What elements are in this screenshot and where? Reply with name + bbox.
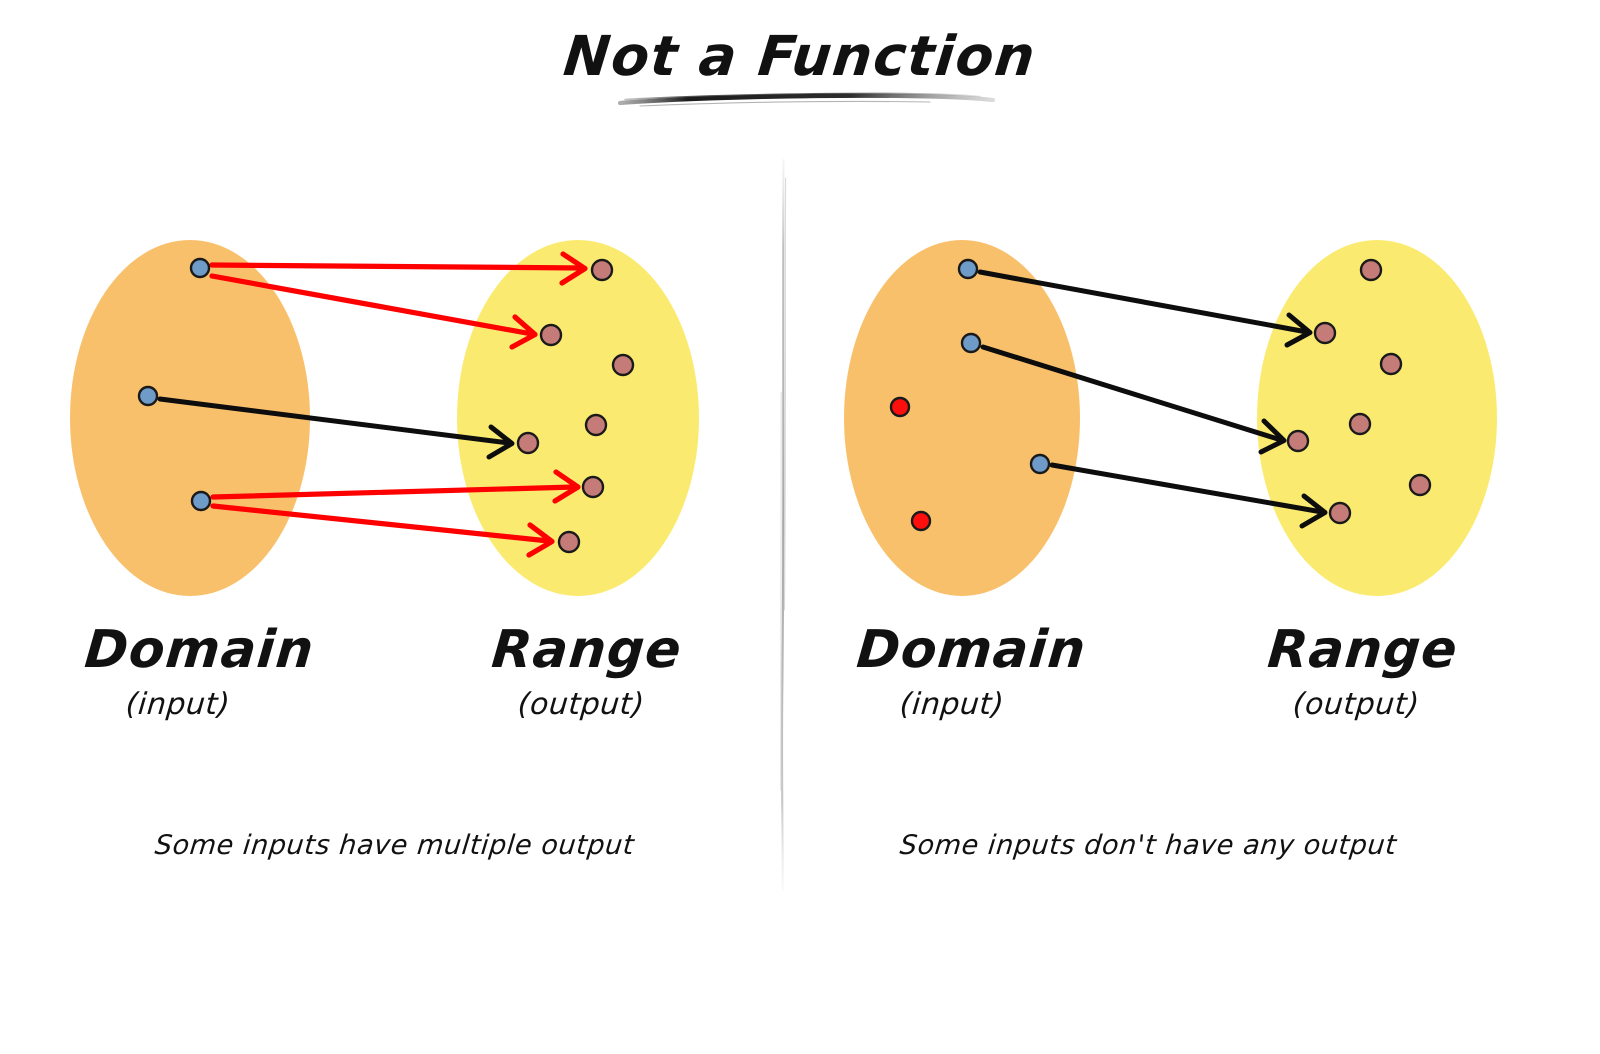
title-underline	[620, 93, 993, 106]
panel-divider	[781, 160, 786, 890]
right-range-sublabel: (output)	[1291, 687, 1420, 722]
right-domain-dot-4	[1031, 455, 1049, 473]
right-domain-dot-5-unmapped	[912, 512, 930, 530]
right-range-dot-1	[1361, 260, 1381, 280]
right-domain-sublabel: (input)	[898, 687, 1005, 722]
right-range-label: Range	[1265, 620, 1460, 680]
right-range-ellipse	[1257, 240, 1497, 596]
left-range-dot-3	[613, 355, 633, 375]
right-range-dot-4	[1350, 414, 1370, 434]
left-domain-ellipse	[70, 240, 310, 596]
right-panel-caption: Some inputs don't have any output	[898, 830, 1398, 861]
left-range-dot-1	[592, 260, 612, 280]
right-range-dot-6	[1410, 475, 1430, 495]
right-domain-ellipse	[844, 240, 1080, 596]
left-range-dot-7	[559, 532, 579, 552]
right-domain-label: Domain	[854, 620, 1088, 680]
right-panel	[844, 240, 1497, 596]
diagram-canvas	[0, 0, 1600, 1054]
left-domain-sublabel: (input)	[124, 687, 231, 722]
right-domain-dot-1	[959, 260, 977, 278]
right-range-dot-7	[1330, 503, 1350, 523]
right-range-dot-3	[1381, 354, 1401, 374]
left-range-dot-5	[518, 433, 538, 453]
left-domain-label: Domain	[82, 620, 316, 680]
left-range-label: Range	[489, 620, 684, 680]
left-domain-dot-3	[192, 492, 210, 510]
right-range-dot-2	[1315, 323, 1335, 343]
left-range-sublabel: (output)	[516, 687, 645, 722]
left-panel-caption: Some inputs have multiple output	[153, 830, 635, 861]
right-domain-dot-3-unmapped	[891, 398, 909, 416]
left-range-dot-2	[541, 325, 561, 345]
page-title: Not a Function	[0, 24, 1600, 88]
left-panel	[70, 240, 699, 596]
left-range-dot-4	[586, 415, 606, 435]
right-domain-dot-2	[962, 334, 980, 352]
left-domain-dot-1	[191, 259, 209, 277]
left-domain-dot-2	[139, 387, 157, 405]
left-range-dot-6	[583, 477, 603, 497]
right-range-dot-5	[1288, 431, 1308, 451]
diagram-page: Not a Function Domain (input) Range (out…	[0, 0, 1600, 1054]
